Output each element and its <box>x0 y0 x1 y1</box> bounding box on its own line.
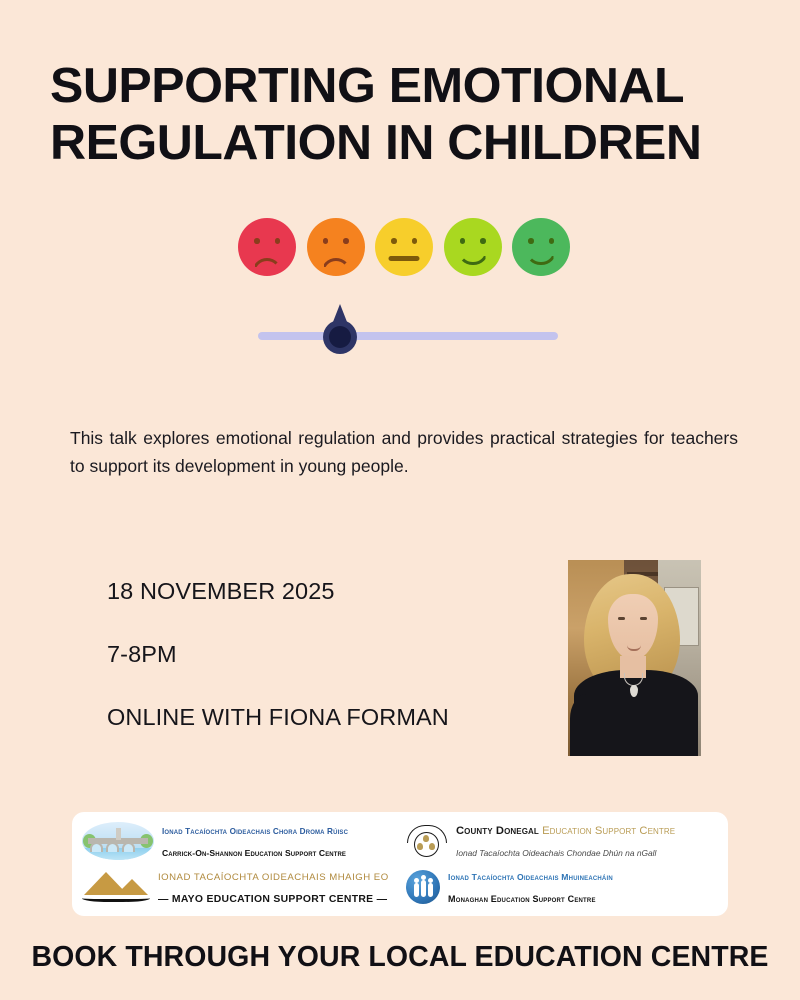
logo-text: County Donegal Education Support Centre … <box>456 819 718 862</box>
logo-monaghan: Ionad Tacaíochta Oideachais Mhuineacháin… <box>400 864 718 910</box>
mountain-peak-large <box>84 872 128 895</box>
eye-left-icon <box>391 238 397 244</box>
smile-mouth-icon <box>526 250 557 265</box>
bridge-logo-icon <box>82 822 154 860</box>
eye-left-icon <box>254 238 260 244</box>
figure-body <box>428 883 433 897</box>
figure-body <box>414 883 419 897</box>
title-line-2: REGULATION IN CHILDREN <box>50 115 764 172</box>
very-sad-face-icon <box>238 218 296 276</box>
logo-mayo: IONAD TACAÍOCHTA OIDEACHAIS MHAIGH EO — … <box>82 864 400 910</box>
logo-english-secondary: Education Support Centre <box>542 825 675 837</box>
eye-right-icon <box>275 238 281 244</box>
mountain-logo-icon <box>82 870 150 904</box>
title-line-1: SUPPORTING EMOTIONAL <box>50 58 764 115</box>
logo-text: IONAD TACAÍOCHTA OIDEACHAIS MHAIGH EO — … <box>158 865 400 908</box>
mood-scale-graphic <box>238 218 578 276</box>
frown-mouth-icon <box>321 258 351 274</box>
eye-right-icon <box>343 238 349 244</box>
bridge-arch <box>122 842 135 852</box>
logo-irish-name: IONAD TACAÍOCHTA OIDEACHAIS MHAIGH EO <box>158 872 389 883</box>
bridge-arch <box>106 842 119 852</box>
flat-mouth-icon <box>389 256 420 261</box>
event-format-speaker: ONLINE WITH FIONA FORMAN <box>107 704 527 731</box>
circle-figures-logo-icon <box>406 870 440 904</box>
eye-logo-icon <box>406 824 448 858</box>
happy-face-icon <box>444 218 502 276</box>
frown-mouth-icon <box>252 258 282 274</box>
slider-track[interactable] <box>258 332 558 340</box>
speaker-shoulder <box>570 694 612 756</box>
handle-inner-dot <box>329 326 351 348</box>
smile-mouth-icon <box>457 250 488 265</box>
logo-text: Ionad Tacaíochta Oideachais Chora Droma … <box>162 819 400 862</box>
eye-right-icon <box>412 238 418 244</box>
bridge-arch <box>90 842 103 852</box>
eye-left-icon <box>460 238 466 244</box>
very-happy-face-icon <box>512 218 570 276</box>
logo-english-name: — MAYO EDUCATION SUPPORT CENTRE — <box>158 894 387 905</box>
event-details: 18 NOVEMBER 2025 7-8PM ONLINE WITH FIONA… <box>107 578 527 731</box>
logo-text: Ionad Tacaíochta Oideachais Mhuineacháin… <box>448 865 718 908</box>
eye-right-icon <box>480 238 486 244</box>
figure-glyph <box>423 835 429 842</box>
page-title: SUPPORTING EMOTIONAL REGULATION IN CHILD… <box>50 58 750 172</box>
logo-carrick-on-shannon: Ionad Tacaíochta Oideachais Chora Droma … <box>82 818 400 864</box>
event-time: 7-8PM <box>107 641 527 668</box>
speaker-eye-left <box>618 617 625 620</box>
eye-right-icon <box>549 238 555 244</box>
logo-irish-name: Ionad Tacaíochta Oideachais Chora Droma … <box>162 827 348 836</box>
figure-body <box>421 880 426 897</box>
figure-glyph <box>417 843 423 850</box>
logo-irish-name: Ionad Tacaíochta Oideachais Mhuineacháin <box>448 872 613 882</box>
logo-english-name: Carrick-On-Shannon Education Support Cen… <box>162 848 346 858</box>
event-description: This talk explores emotional regulation … <box>70 424 738 481</box>
eye-left-icon <box>323 238 329 244</box>
slider-handle[interactable] <box>320 304 360 356</box>
logo-irish-name: Ionad Tacaíochta Oideachais Chondae Dhún… <box>456 848 656 858</box>
eye-left-icon <box>528 238 534 244</box>
mood-face-row <box>238 218 570 276</box>
booking-call-to-action: BOOK THROUGH YOUR LOCAL EDUCATION CENTRE <box>0 941 800 974</box>
event-poster: SUPPORTING EMOTIONAL REGULATION IN CHILD… <box>0 0 800 1000</box>
bridge-tower <box>116 828 121 840</box>
logo-english-primary: County Donegal <box>456 825 539 837</box>
speaker-eye-right <box>640 617 647 620</box>
logo-english-name: Monaghan Education Support Centre <box>448 894 596 904</box>
wave-stroke <box>82 893 150 902</box>
speaker-photo <box>568 560 701 756</box>
figure-glyph <box>429 843 435 850</box>
event-date: 18 NOVEMBER 2025 <box>107 578 527 605</box>
logo-county-donegal: County Donegal Education Support Centre … <box>400 818 718 864</box>
mood-slider[interactable] <box>258 320 558 360</box>
neutral-face-icon <box>375 218 433 276</box>
sponsor-logos-panel: Ionad Tacaíochta Oideachais Chora Droma … <box>72 812 728 916</box>
sad-face-icon <box>307 218 365 276</box>
